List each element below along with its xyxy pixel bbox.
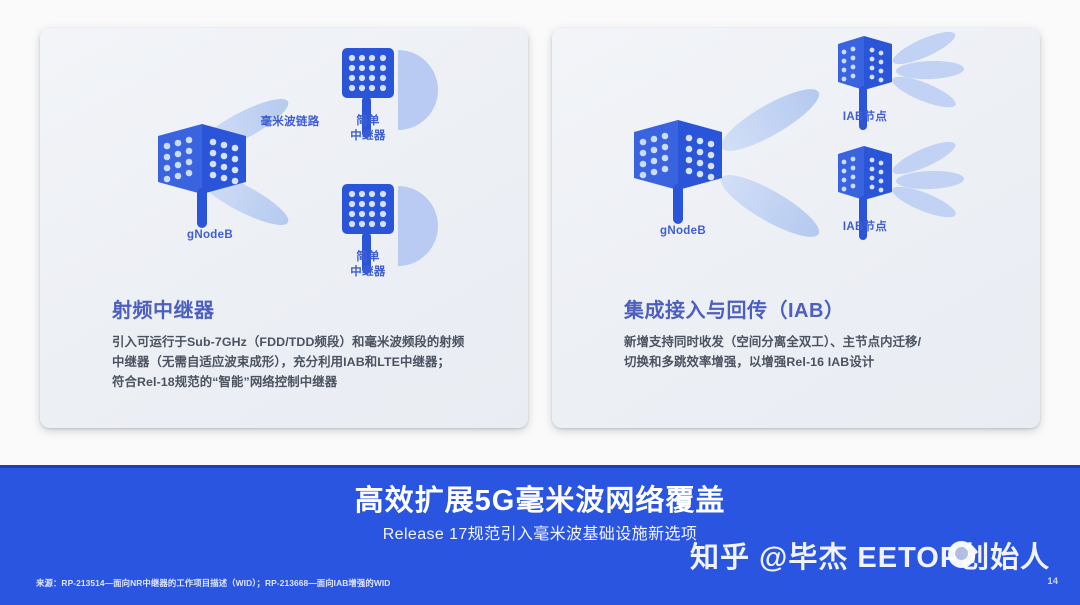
banner-source-note: 来源：RP-213514—面向NR中继器的工作项目描述（WID）；RP-2136… [36,577,390,589]
label-simple-relay-bottom: 简单 中继器 [328,250,408,280]
label-iab-node-bottom: IAB节点 [820,220,910,235]
backhaul-beam-lower-icon [714,165,826,247]
card-heading-iab: 集成接入与回传（IAB） [624,300,1024,323]
diagram-rf-repeater: gNodeB 毫米波链路 简单 中继器 简单 中继器 [40,28,528,296]
text-block-rf-repeater: 射频中继器 引入可运行于Sub-7GHz（FDD/TDD频段）和毫米波频段的射频… [112,300,512,392]
banner-subtitle: Release 17规范引入毫米波基础设施新选项 [0,520,1080,544]
card-body-iab: 新增支持同时收发（空间分离全双工）、主节点内迁移/ 切换和多跳效率增强，以增强R… [624,332,1024,372]
banner-title: 高效扩展5G毫米波网络覆盖 [0,477,1080,519]
page-number: 14 [1047,576,1058,587]
label-gnodeb-right: gNodeB [638,224,728,239]
rf-repeater-svg [40,28,528,296]
backhaul-beam-upper-icon [714,79,826,161]
card-rf-repeater: gNodeB 毫米波链路 简单 中继器 简单 中继器 射频中继器 引入可运行于S… [40,28,528,428]
cards-area: gNodeB 毫米波链路 简单 中继器 简单 中继器 射频中继器 引入可运行于S… [0,0,1080,465]
iab-svg [552,28,1040,296]
label-iab-node-top: IAB节点 [820,110,910,125]
label-mmwave-link: 毫米波链路 [240,115,340,130]
label-gnodeb-left: gNodeB [165,228,255,243]
card-heading-rf-repeater: 射频中继器 [112,300,512,323]
text-block-iab: 集成接入与回传（IAB） 新增支持同时收发（空间分离全双工）、主节点内迁移/ 切… [624,300,1024,372]
gnodeb-antenna-icon [158,124,246,228]
banner-top-divider [0,465,1080,468]
card-body-rf-repeater: 引入可运行于Sub-7GHz（FDD/TDD频段）和毫米波频段的射频 中继器（无… [112,332,512,392]
diagram-iab: gNodeB IAB节点 IAB节点 [552,28,1040,296]
card-iab: gNodeB IAB节点 IAB节点 集成接入与回传（IAB） 新增支持同时收发… [552,28,1040,428]
slide-root: gNodeB 毫米波链路 简单 中继器 简单 中继器 射频中继器 引入可运行于S… [0,0,1080,605]
gnodeb-antenna-icon [634,120,722,224]
label-simple-relay-top: 简单 中继器 [328,114,408,144]
